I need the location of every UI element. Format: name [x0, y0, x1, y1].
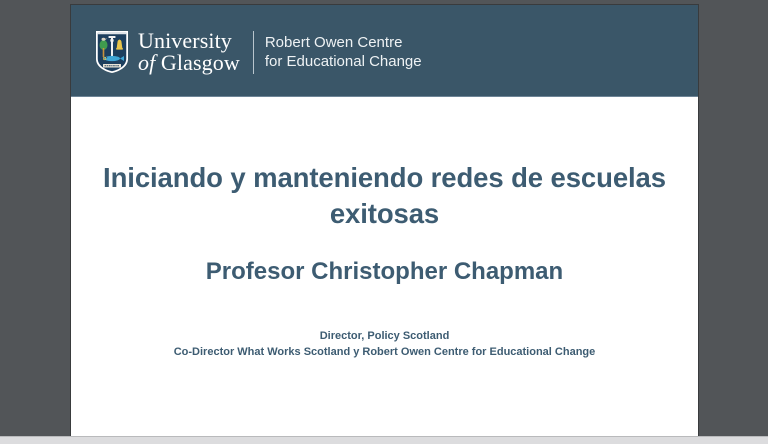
- university-of-glasgow-crest-icon: [95, 30, 129, 74]
- wordmark-glasgow: Glasgow: [161, 50, 240, 75]
- wordmark-of: of: [138, 50, 155, 75]
- viewer-bottom-strip: [0, 436, 768, 444]
- centre-name: Robert Owen Centre for Educational Chang…: [265, 33, 422, 72]
- affiliation-line-2: Co-Director What Works Scotland y Robert…: [83, 345, 686, 361]
- centre-name-line-2: for Educational Change: [265, 52, 422, 72]
- slide-title: Iniciando y manteniendo redes de escuela…: [93, 160, 676, 232]
- brand-divider: [253, 31, 254, 74]
- slide-viewer: University of Glasgow Robert Owen Centre…: [0, 0, 768, 444]
- presenter-name: Profesor Christopher Chapman: [93, 257, 676, 287]
- university-wordmark: University of Glasgow: [138, 30, 240, 75]
- wordmark-line-university: University: [138, 30, 240, 52]
- wordmark-line-of-glasgow: of Glasgow: [138, 52, 240, 74]
- presentation-slide: University of Glasgow Robert Owen Centre…: [71, 5, 698, 437]
- slide-header-band: University of Glasgow Robert Owen Centre…: [71, 5, 698, 97]
- slide-body: Iniciando y manteniendo redes de escuela…: [71, 97, 698, 437]
- presenter-affiliation: Director, Policy Scotland Co-Director Wh…: [83, 329, 686, 361]
- affiliation-line-1: Director, Policy Scotland: [83, 329, 686, 345]
- centre-name-line-1: Robert Owen Centre: [265, 33, 422, 53]
- brand-lockup: University of Glasgow Robert Owen Centre…: [95, 30, 422, 75]
